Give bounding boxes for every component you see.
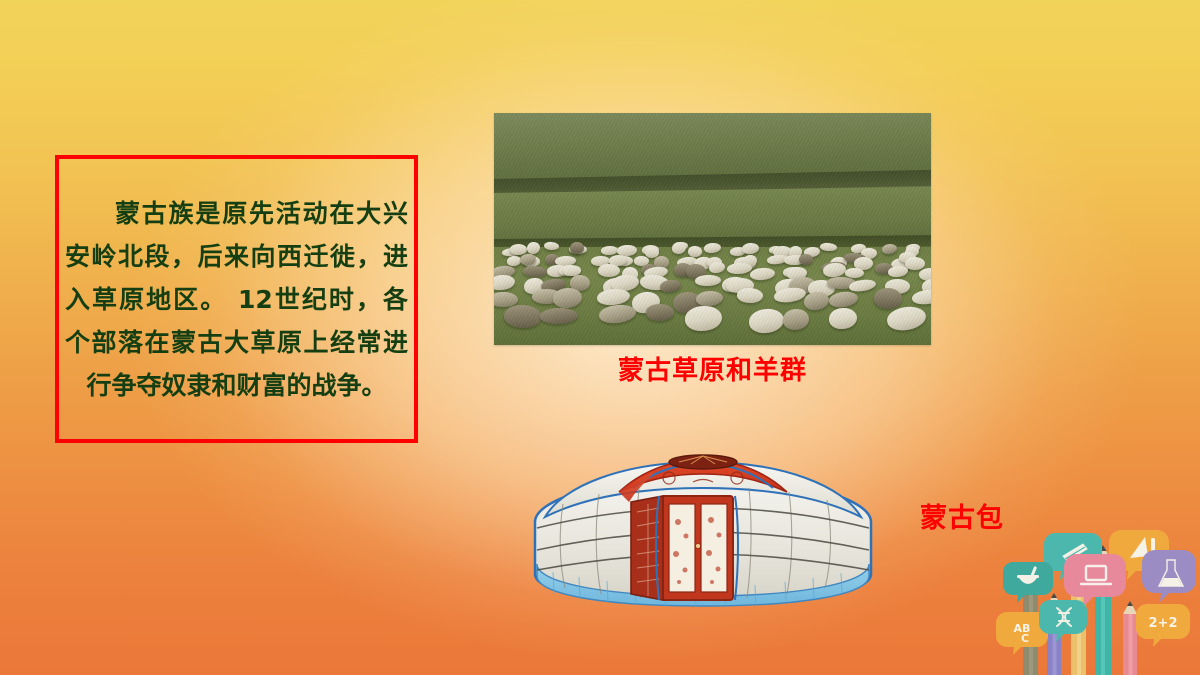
- pencil-5: [1123, 601, 1137, 675]
- description-textbox: 蒙古族是原先活动在大兴安岭北段，后来向西迁徙，进入草原地区。 12世纪时，各个部…: [55, 155, 418, 443]
- abc-icon-label-2: C: [1021, 632, 1029, 645]
- yurt-illustration: [523, 404, 883, 630]
- slide-canvas: 蒙古族是原先活动在大兴安岭北段，后来向西迁徙，进入草原地区。 12世纪时，各个部…: [0, 0, 1200, 675]
- education-decoration: AB C 2+2: [995, 528, 1200, 675]
- door-handle: [695, 543, 700, 548]
- bubble-flask: [1142, 550, 1196, 602]
- grassland-photo-caption: 蒙古草原和羊群: [494, 350, 931, 387]
- grassland-photo: [494, 113, 931, 345]
- yurt-caption: 蒙古包: [920, 496, 1004, 535]
- decoration-svg: AB C 2+2: [995, 528, 1200, 675]
- description-text: 蒙古族是原先活动在大兴安岭北段，后来向西迁徙，进入草原地区。 12世纪时，各个部…: [59, 192, 414, 407]
- yurt-svg: [523, 404, 883, 630]
- bubble-math: 2+2: [1136, 604, 1190, 647]
- photo-grass-texture: [494, 113, 931, 345]
- math-icon-label: 2+2: [1149, 616, 1178, 631]
- yurt-door: [661, 496, 733, 600]
